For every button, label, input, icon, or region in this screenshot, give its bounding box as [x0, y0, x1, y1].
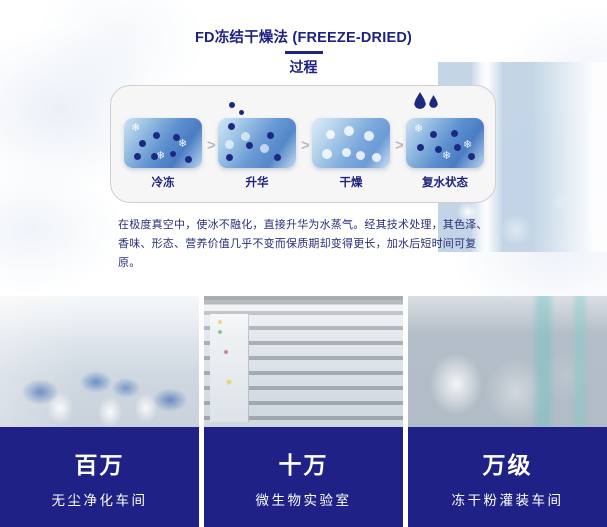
- facility-number: 十万: [279, 446, 329, 480]
- stage-separator-chevron-2: >: [301, 138, 310, 153]
- process-stage-sublimation: 升华: [218, 104, 296, 196]
- facility-card-microbiology-lab[interactable]: 十万 微生物实验室: [204, 296, 403, 527]
- process-description: 在极度真空中，使冰不融化，直接升华为水蒸气。经其技术处理，其色泽、香味、形态、营…: [118, 216, 496, 273]
- facility-number: 万级: [483, 446, 533, 480]
- stage-label-drying: 干燥: [300, 174, 402, 190]
- process-stage-list: ❄ ❄ ❄ 冷冻: [111, 86, 497, 204]
- stage-label-freezing: 冷冻: [112, 174, 214, 190]
- water-droplet-icon: [412, 92, 452, 118]
- page-subtitle: 过程: [0, 57, 607, 77]
- vial-frozen-icon: ❄ ❄ ❄: [124, 118, 202, 168]
- vial-rehydrated-icon: ❄ ❄ ❄: [406, 118, 484, 168]
- stage-label-sublimation: 升华: [206, 174, 308, 190]
- title-divider: [285, 51, 323, 54]
- freeze-dried-filling-photo: [408, 296, 607, 427]
- facility-caption: 微生物实验室: [256, 489, 352, 509]
- process-stage-freezing: ❄ ❄ ❄ 冷冻: [124, 104, 202, 196]
- stage-separator-chevron-1: >: [207, 138, 216, 153]
- vial-sublimation-icon: [218, 118, 296, 168]
- cleanroom-photo: [0, 296, 199, 427]
- facility-number: 百万: [75, 446, 125, 480]
- facility-card-banner: 百万 无尘净化车间: [0, 427, 199, 527]
- page-title: FD冻结干燥法 (FREEZE-DRIED): [0, 26, 607, 47]
- stage-separator-chevron-3: >: [395, 138, 404, 153]
- microbiology-lab-photo: [204, 296, 403, 427]
- facility-card-banner: 十万 微生物实验室: [204, 427, 403, 527]
- process-diagram-panel: ❄ ❄ ❄ 冷冻: [110, 85, 496, 203]
- facility-card-cleanroom[interactable]: 百万 无尘净化车间: [0, 296, 199, 527]
- process-stage-drying: 干燥: [312, 104, 390, 196]
- vial-dried-icon: [312, 118, 390, 168]
- freeze-dried-process-section: FD冻结干燥法 (FREEZE-DRIED) 过程 ❄ ❄ ❄ 冷冻: [0, 0, 607, 292]
- facility-card-list: 百万 无尘净化车间 十万 微生物实验室 万级 冻干粉灌装车间: [0, 296, 607, 527]
- stage-label-rehydrated: 复水状态: [394, 174, 496, 190]
- process-stage-rehydrated: ❄ ❄ ❄ 复水状态: [406, 104, 484, 196]
- facility-card-banner: 万级 冻干粉灌装车间: [408, 427, 607, 527]
- facility-caption: 冻干粉灌装车间: [452, 489, 564, 509]
- facility-caption: 无尘净化车间: [52, 489, 148, 509]
- facility-card-filling-workshop[interactable]: 万级 冻干粉灌装车间: [408, 296, 607, 527]
